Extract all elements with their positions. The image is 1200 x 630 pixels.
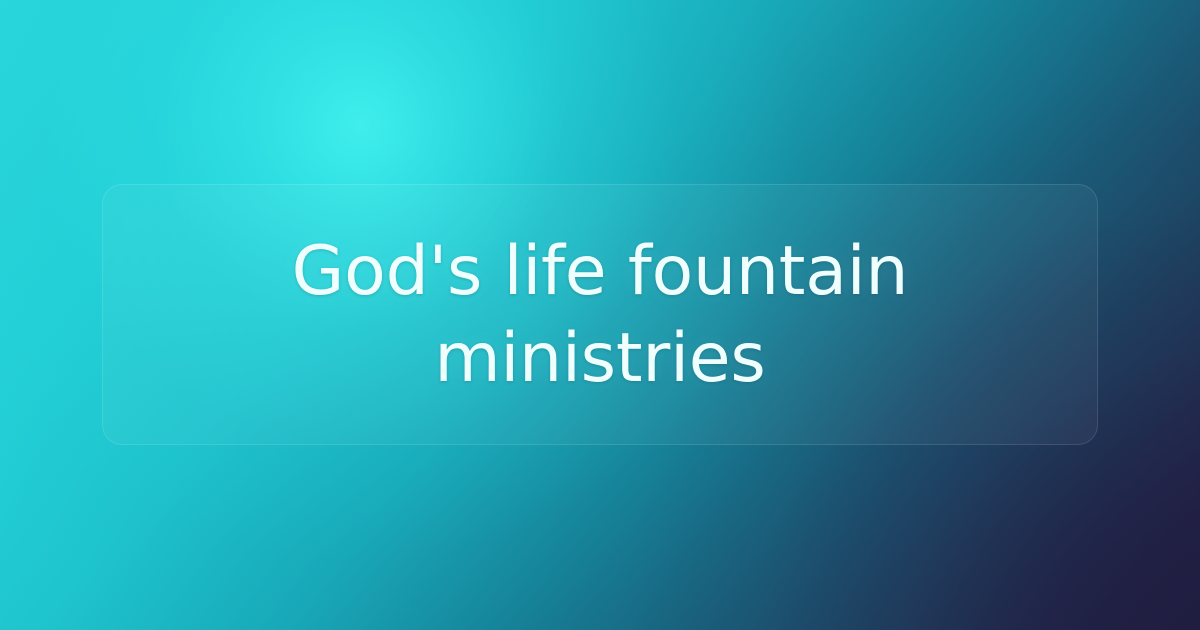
title-card-panel: God's life fountain ministries xyxy=(102,184,1098,445)
page-title: God's life fountain ministries xyxy=(137,228,1063,402)
social-card-canvas: God's life fountain ministries xyxy=(0,0,1200,630)
